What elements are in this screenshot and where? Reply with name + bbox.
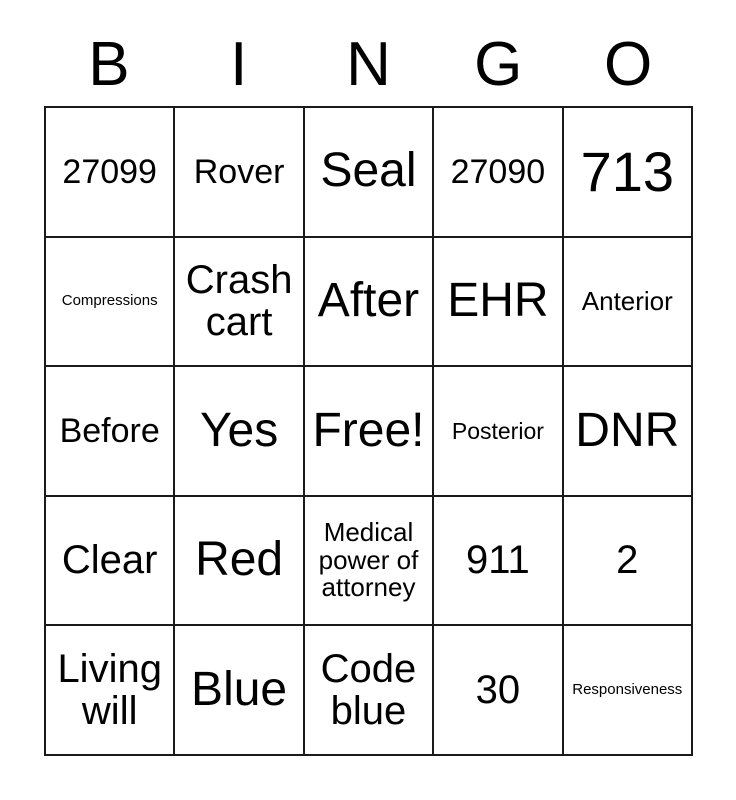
bingo-cell-r2c2[interactable]: Crash cart [175,238,304,368]
bingo-cell-r1c2[interactable]: Rover [175,108,304,238]
bingo-cell-label: 2 [567,539,688,581]
bingo-cell-r5c2[interactable]: Blue [175,626,304,756]
bingo-cell-label: Rover [178,154,299,190]
header-letter-o: O [563,24,693,106]
bingo-cell-label: Responsiveness [567,682,688,698]
bingo-cell-r4c4[interactable]: 911 [434,497,563,627]
bingo-cell-r1c5[interactable]: 713 [564,108,693,238]
bingo-cell-label: Living will [49,648,170,733]
bingo-cell-r3c5[interactable]: DNR [564,367,693,497]
bingo-cell-r3c4[interactable]: Posterior [434,367,563,497]
bingo-cell-r3c1[interactable]: Before [46,367,175,497]
bingo-cell-r5c1[interactable]: Living will [46,626,175,756]
bingo-cell-label: Seal [308,146,429,197]
bingo-cell-r5c3[interactable]: Code blue [305,626,434,756]
header-letter-g: G [433,24,563,106]
bingo-cell-label: DNR [567,406,688,457]
header-letter-n: N [304,24,434,106]
bingo-cell-label: 27090 [437,154,558,190]
bingo-cell-label: Posterior [437,419,558,443]
bingo-cell-r5c4[interactable]: 30 [434,626,563,756]
bingo-cell-label: EHR [437,276,558,327]
bingo-cell-r5c5[interactable]: Responsiveness [564,626,693,756]
bingo-cell-r4c1[interactable]: Clear [46,497,175,627]
bingo-cell-r2c4[interactable]: EHR [434,238,563,368]
free-space-label: Free! [308,406,429,457]
header-letter-b: B [44,24,174,106]
bingo-cell-r1c3[interactable]: Seal [305,108,434,238]
bingo-header: B I N G O [44,24,693,106]
bingo-cell-label: After [308,276,429,327]
bingo-cell-label: Blue [178,665,299,716]
bingo-cell-label: Crash cart [178,259,299,344]
bingo-cell-r1c1[interactable]: 27099 [46,108,175,238]
bingo-cell-label: Red [178,535,299,586]
bingo-cell-label: Yes [178,406,299,457]
bingo-cell-label: Compressions [49,293,170,309]
bingo-cell-label: 713 [567,142,688,201]
bingo-cell-r2c5[interactable]: Anterior [564,238,693,368]
header-letter-i: I [174,24,304,106]
bingo-cell-r4c3[interactable]: Medical power of attorney [305,497,434,627]
bingo-cell-label: 911 [437,539,558,581]
bingo-cell-r4c5[interactable]: 2 [564,497,693,627]
bingo-cell-label: Medical power of attorney [308,519,429,602]
bingo-cell-r2c1[interactable]: Compressions [46,238,175,368]
bingo-cell-label: 30 [437,669,558,711]
bingo-card: B I N G O 27099 Rover Seal 27090 713 Com… [0,0,736,800]
bingo-cell-r4c2[interactable]: Red [175,497,304,627]
bingo-cell-r3c2[interactable]: Yes [175,367,304,497]
bingo-cell-label: Clear [49,539,170,581]
bingo-cell-label: 27099 [49,154,170,190]
bingo-grid: 27099 Rover Seal 27090 713 Compressions … [44,106,693,756]
bingo-cell-r2c3[interactable]: After [305,238,434,368]
bingo-cell-label: Before [49,413,170,449]
bingo-cell-free-space[interactable]: Free! [305,367,434,497]
bingo-cell-label: Code blue [308,648,429,733]
bingo-cell-label: Anterior [567,288,688,316]
bingo-cell-r1c4[interactable]: 27090 [434,108,563,238]
